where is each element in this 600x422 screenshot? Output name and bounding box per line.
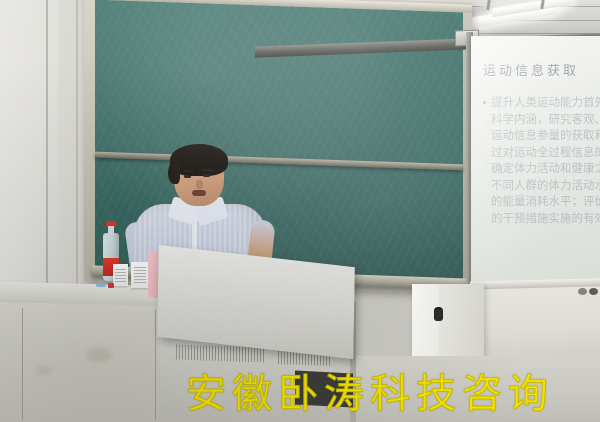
desk-panel-seam	[22, 308, 23, 420]
speaker-eye	[184, 175, 191, 178]
wall-pillar-face	[412, 284, 439, 358]
ledge-knob	[589, 288, 598, 295]
slide-line: 的干预措施实施的有效	[491, 210, 600, 227]
paper-cup-print	[134, 267, 146, 283]
speaker-eye	[203, 174, 210, 177]
slide-body-text: 提升人类运动能力首先 科学内涵，研究客观、 运动信息参量的获取和 过对运动全过程…	[491, 94, 600, 226]
slide-line: 的能量消耗水平；评价	[491, 193, 600, 210]
slide-title: 运动信息获取	[483, 60, 600, 79]
speaker-mouth	[192, 190, 206, 196]
door-jamb-line	[76, 0, 78, 300]
small-blue-object	[96, 283, 106, 287]
speaker-brow	[183, 170, 194, 172]
paper-cup-print	[115, 268, 126, 282]
slide-line: 运动信息参量的获取和	[491, 127, 600, 144]
watermark: 安徽卧涛科技咨询	[186, 372, 554, 416]
speaker-brow	[202, 169, 213, 171]
slide-bullet-icon	[483, 101, 486, 104]
photo-scene: 运动信息获取 提升人类运动能力首先 科学内涵，研究客观、 运动信息参量的获取和 …	[0, 0, 600, 422]
wall-outlet	[434, 307, 443, 321]
projection-screen: 运动信息获取 提升人类运动能力首先 科学内涵，研究客观、 运动信息参量的获取和 …	[471, 36, 600, 286]
slide-line: 确定体力活动和健康之	[491, 160, 600, 177]
speaker-nose	[196, 180, 203, 189]
right-wall-lower	[470, 286, 600, 358]
desk-stain	[86, 348, 112, 362]
door-jamb-line	[46, 0, 48, 320]
slide-line: 科学内涵，研究客观、	[491, 111, 600, 128]
slide-line: 不同人群的体力活动水	[491, 177, 600, 194]
slide-line: 提升人类运动能力首先	[491, 94, 600, 111]
small-red-object	[108, 283, 114, 288]
slide-line: 过对运动全过程信息的	[491, 144, 600, 161]
desk-panel-seam	[155, 310, 156, 420]
desk-stain	[36, 366, 52, 375]
speaker-hair-side	[168, 162, 180, 184]
ledge-knob	[578, 288, 587, 295]
